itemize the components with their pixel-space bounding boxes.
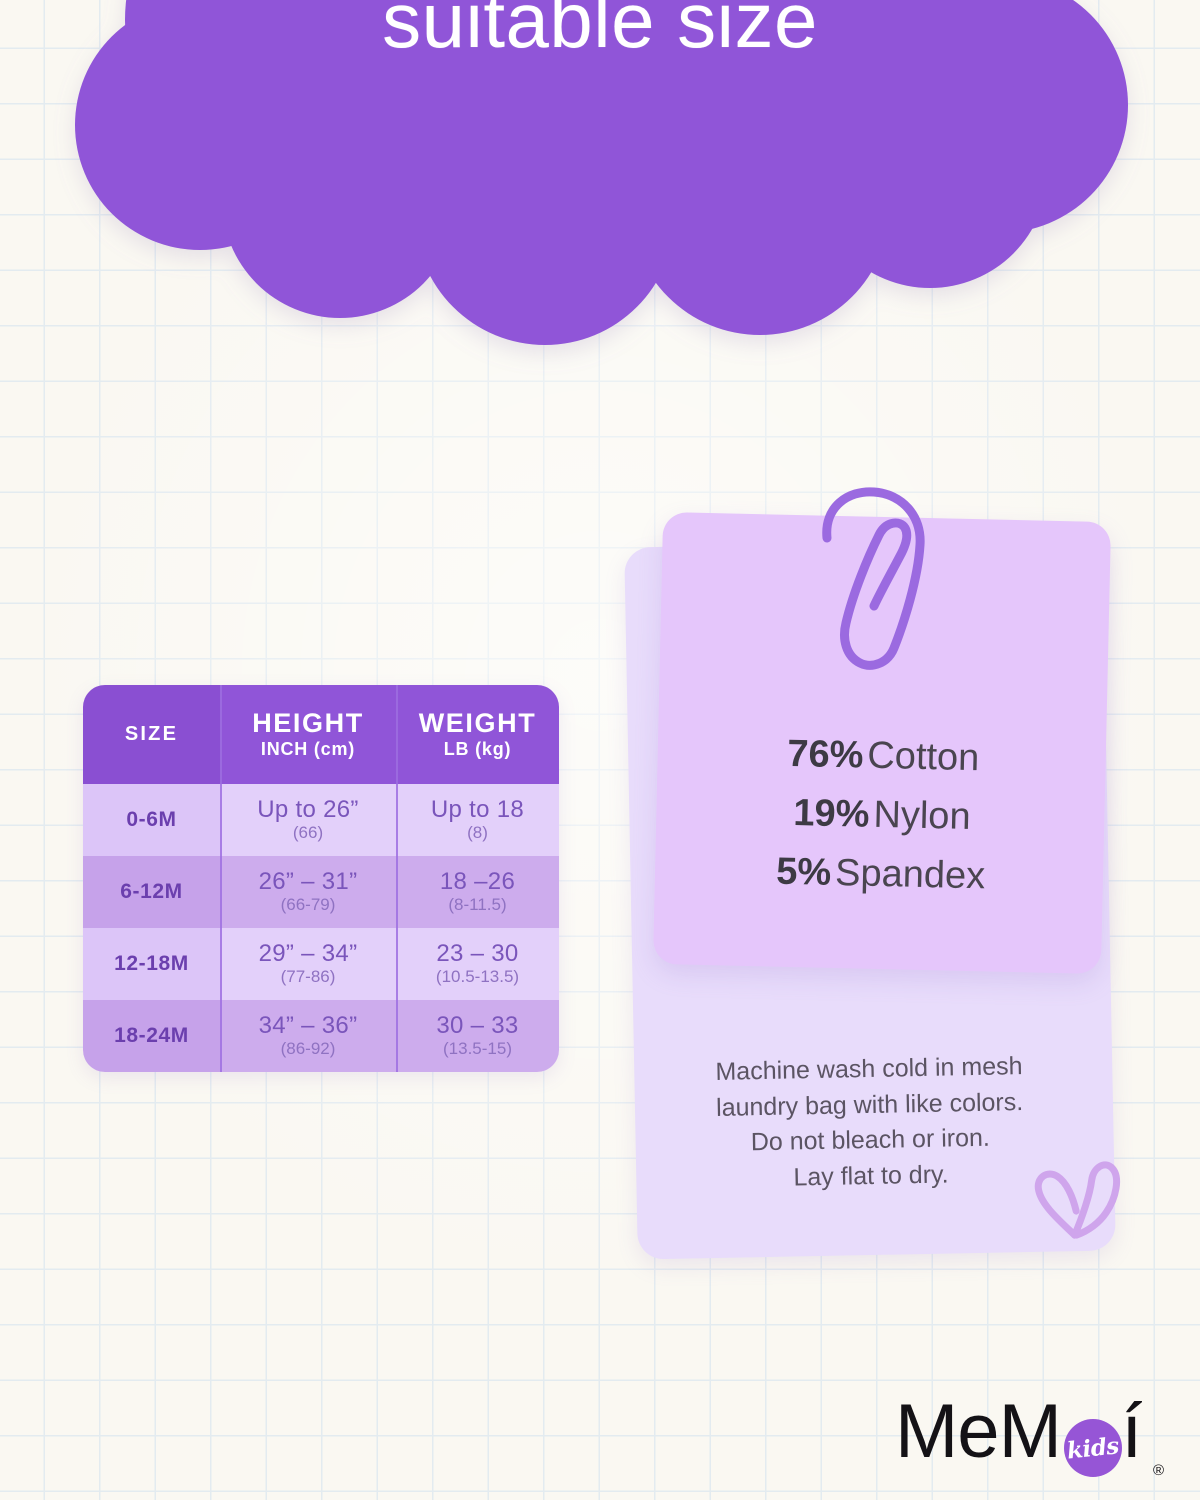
cell-weight: Up to 18 (8) bbox=[396, 784, 559, 856]
cloud-banner: Find your suitable size bbox=[0, 0, 1200, 390]
paperclip-icon bbox=[800, 483, 950, 673]
table-row: 18-24M 34” – 36” (86-92) 30 – 33 (13.5-1… bbox=[83, 1000, 559, 1072]
cell-weight: 18 –26 (8-11.5) bbox=[396, 856, 559, 928]
fabric-material: Cotton bbox=[867, 735, 980, 780]
cell-weight: 23 – 30 (10.5-13.5) bbox=[396, 928, 559, 1000]
fabric-percent: 5% bbox=[776, 850, 832, 893]
fabric-percent: 76% bbox=[787, 733, 864, 777]
fabric-line: 5%Spandex bbox=[656, 840, 1105, 909]
brand-logo: MeM í kids ® bbox=[895, 1390, 1165, 1486]
table-header-weight: WEIGHT LB (kg) bbox=[396, 685, 559, 784]
table-header-height: HEIGHT INCH (cm) bbox=[220, 685, 396, 784]
cell-height: 26” – 31” (66-79) bbox=[220, 856, 396, 928]
fabric-line: 19%Nylon bbox=[657, 781, 1106, 850]
kids-badge-label: kids bbox=[1066, 1432, 1120, 1464]
table-body: 0-6M Up to 26” (66) Up to 18 (8) 6-12M 2… bbox=[83, 784, 559, 1072]
fabric-material: Nylon bbox=[873, 794, 971, 838]
table-header-size: SIZE bbox=[83, 685, 220, 784]
page-title: Find your suitable size bbox=[0, 0, 1200, 58]
cell-weight: 30 – 33 (13.5-15) bbox=[396, 1000, 559, 1072]
cell-size: 18-24M bbox=[83, 1000, 220, 1072]
cell-height: 29” – 34” (77-86) bbox=[220, 928, 396, 1000]
heart-icon bbox=[1029, 1154, 1131, 1251]
fabric-composition-list: 76%Cotton 19%Nylon 5%Spandex bbox=[656, 722, 1108, 909]
table-header-row: SIZE HEIGHT INCH (cm) WEIGHT LB (kg) bbox=[83, 685, 559, 784]
cell-size: 0-6M bbox=[83, 784, 220, 856]
cell-height: 34” – 36” (86-92) bbox=[220, 1000, 396, 1072]
cell-size: 12-18M bbox=[83, 928, 220, 1000]
cell-size: 6-12M bbox=[83, 856, 220, 928]
cell-height: Up to 26” (66) bbox=[220, 784, 396, 856]
kids-badge: kids bbox=[1064, 1419, 1122, 1477]
size-chart-table: SIZE HEIGHT INCH (cm) WEIGHT LB (kg) 0-6… bbox=[83, 685, 559, 1072]
table-row: 0-6M Up to 26” (66) Up to 18 (8) bbox=[83, 784, 559, 856]
table-row: 12-18M 29” – 34” (77-86) 23 – 30 (10.5-1… bbox=[83, 928, 559, 1000]
fabric-percent: 19% bbox=[793, 792, 870, 836]
table-row: 6-12M 26” – 31” (66-79) 18 –26 (8-11.5) bbox=[83, 856, 559, 928]
registered-trademark-symbol: ® bbox=[1153, 1462, 1164, 1479]
fabric-material: Spandex bbox=[835, 852, 986, 897]
fabric-line: 76%Cotton bbox=[659, 722, 1108, 791]
